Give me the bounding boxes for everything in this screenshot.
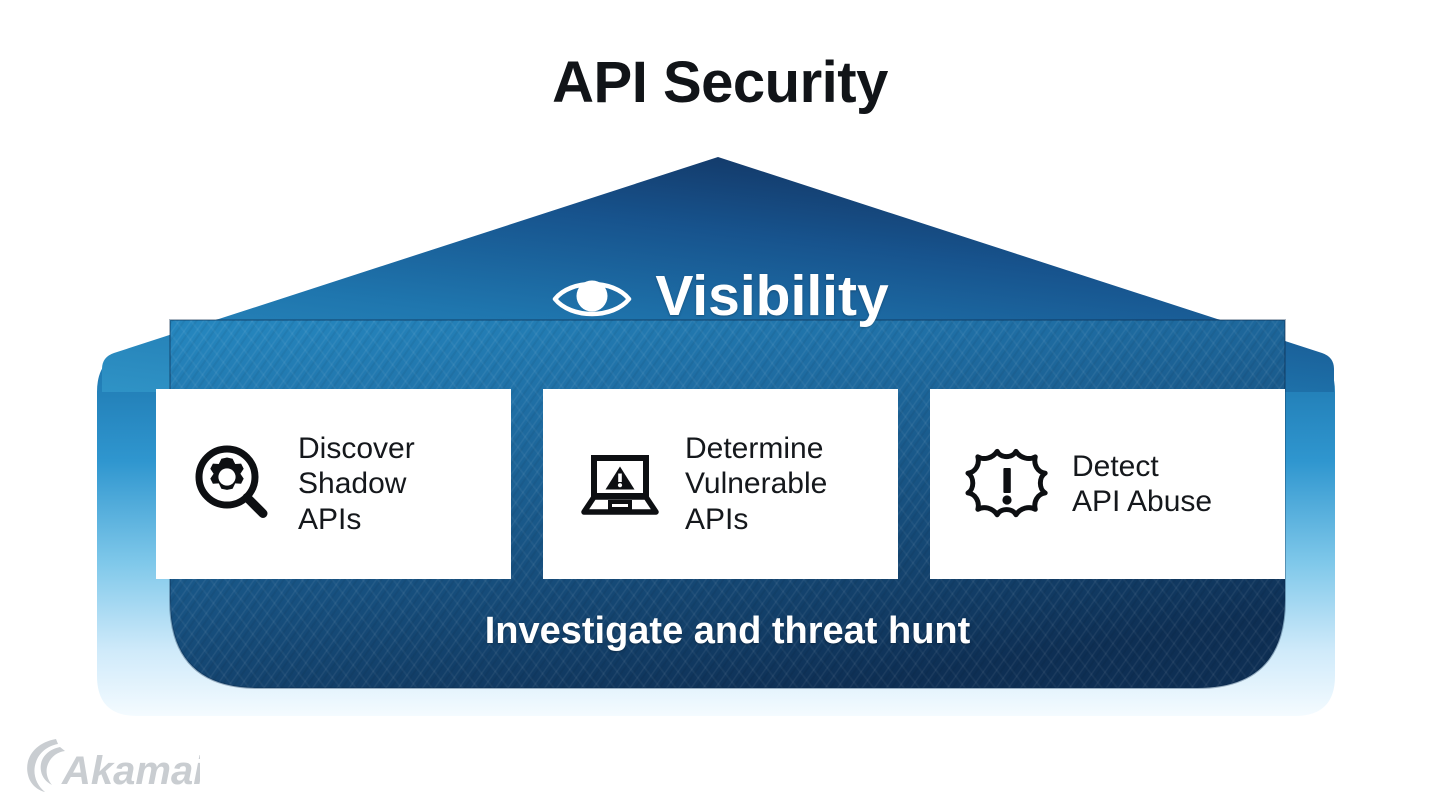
laptop-warning-icon	[577, 441, 663, 527]
capability-cards: Discover Shadow APIs Determine Vulnerabl…	[156, 389, 1285, 579]
card-label: Discover Shadow APIs	[298, 431, 415, 536]
burst-exclamation-icon	[964, 441, 1050, 527]
card-determine-vulnerable-apis[interactable]: Determine Vulnerable APIs	[543, 389, 898, 579]
akamai-wordmark: Akamai	[61, 749, 200, 793]
card-label: Determine Vulnerable APIs	[685, 431, 827, 536]
card-detect-api-abuse[interactable]: Detect API Abuse	[930, 389, 1285, 579]
card-label: Detect API Abuse	[1072, 449, 1212, 519]
magnifier-gear-icon	[190, 441, 276, 527]
slide-canvas: API Security	[0, 0, 1440, 810]
akamai-logo: Akamai	[20, 733, 200, 795]
card-discover-shadow-apis[interactable]: Discover Shadow APIs	[156, 389, 511, 579]
